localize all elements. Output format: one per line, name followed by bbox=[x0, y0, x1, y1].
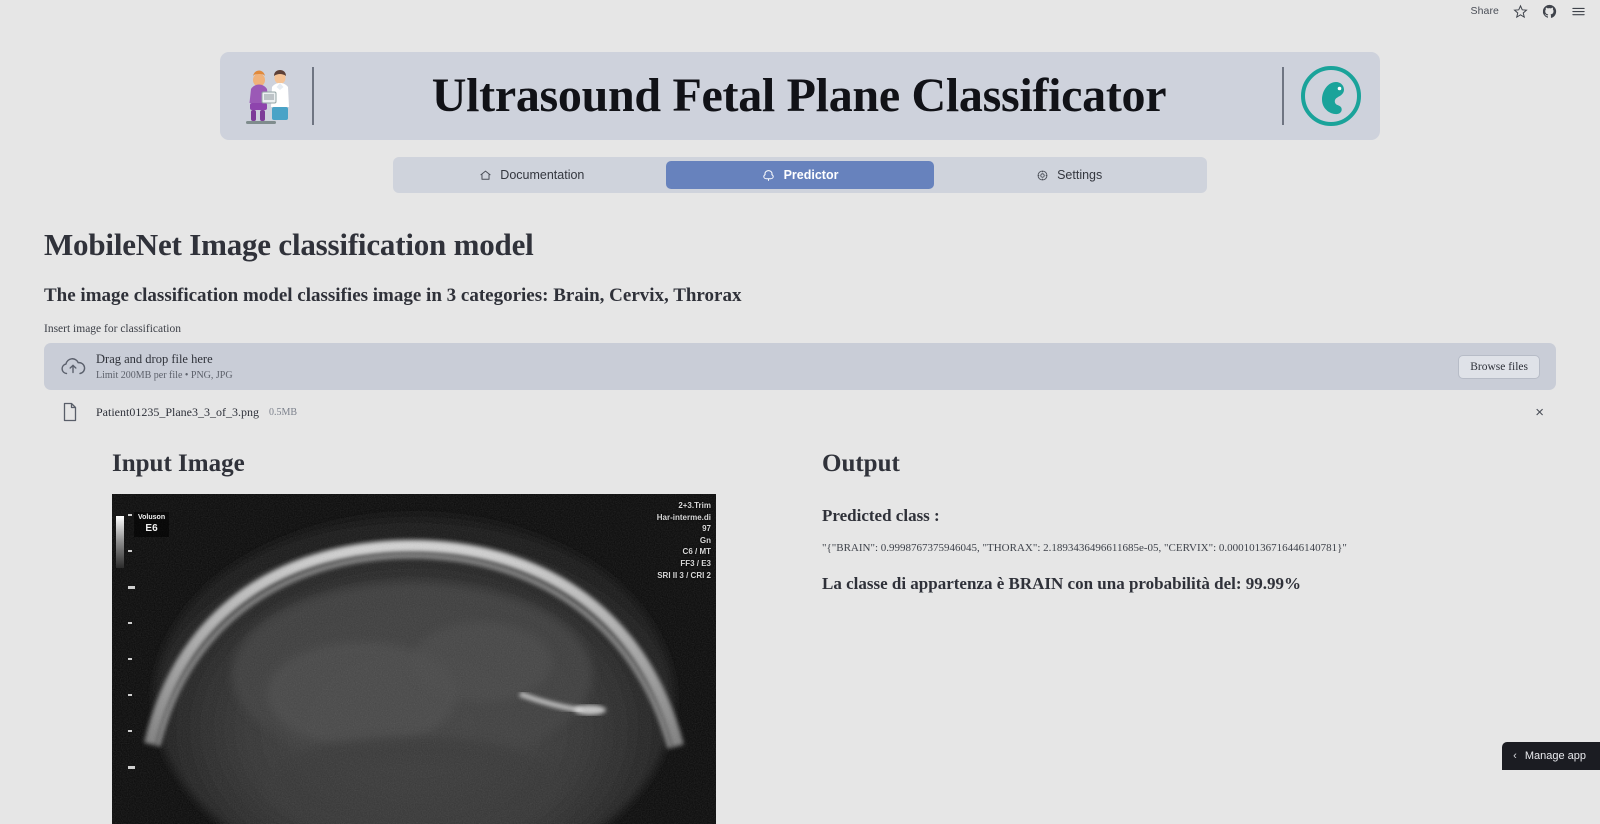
ultrasound-canvas bbox=[112, 494, 716, 824]
uploaded-file-row: Patient01235_Plane3_3_of_3.png 0.5MB × bbox=[44, 398, 1556, 426]
uploaded-file-name: Patient01235_Plane3_3_of_3.png bbox=[96, 405, 259, 420]
ultrasound-param-5: FF3 / E3 bbox=[657, 558, 711, 570]
github-icon[interactable] bbox=[1542, 4, 1557, 19]
manage-app-label: Manage app bbox=[1525, 750, 1586, 762]
dropzone-text: Drag and drop file here Limit 200MB per … bbox=[96, 352, 1458, 381]
star-icon[interactable] bbox=[1513, 4, 1528, 19]
prediction-summary: La classe di appartenza è BRAIN con una … bbox=[822, 574, 1556, 594]
chevron-left-icon: ‹ bbox=[1513, 750, 1517, 762]
ultrasound-param-1: Har-interme.di bbox=[657, 512, 711, 524]
manage-app-button[interactable]: ‹ Manage app bbox=[1502, 742, 1600, 770]
model-subheading: The image classification model classifie… bbox=[44, 285, 1556, 307]
doctor-patient-illustration-icon bbox=[242, 65, 298, 127]
page-title: Ultrasound Fetal Plane Classificator bbox=[330, 72, 1268, 120]
share-label[interactable]: Share bbox=[1470, 5, 1499, 17]
tree-icon bbox=[762, 168, 776, 182]
ultrasound-image: Voluson E6 2+3.Trim Har-interme.di 97 Gn… bbox=[112, 494, 716, 824]
nav-bar: Documentation Predictor Settings bbox=[393, 157, 1207, 193]
insert-image-caption: Insert image for classification bbox=[44, 323, 1556, 335]
banner-divider-left bbox=[312, 67, 314, 125]
header-banner: Ultrasound Fetal Plane Classificator bbox=[220, 52, 1380, 140]
gear-icon bbox=[1035, 168, 1049, 182]
tab-predictor-label: Predictor bbox=[784, 168, 839, 182]
ultrasound-brand-name: Voluson bbox=[138, 513, 165, 522]
dropzone-limit: Limit 200MB per file • PNG, JPG bbox=[96, 370, 1458, 381]
tab-documentation[interactable]: Documentation bbox=[397, 161, 666, 189]
model-heading: MobileNet Image classification model bbox=[44, 227, 1556, 263]
ultrasound-param-2: 97 bbox=[657, 523, 711, 535]
home-icon bbox=[478, 168, 492, 182]
tab-predictor[interactable]: Predictor bbox=[666, 161, 935, 189]
ultrasound-tick-marks bbox=[128, 506, 138, 806]
main-content: MobileNet Image classification model The… bbox=[0, 227, 1600, 824]
header-banner-wrapper: Ultrasound Fetal Plane Classificator bbox=[0, 52, 1600, 140]
ultrasound-param-0: 2+3.Trim bbox=[657, 500, 711, 512]
tab-documentation-label: Documentation bbox=[500, 168, 584, 182]
remove-file-icon[interactable]: × bbox=[1535, 405, 1544, 420]
ultrasound-param-3: Gn bbox=[657, 535, 711, 547]
ultrasound-param-6: SRI II 3 / CRI 2 bbox=[657, 570, 711, 582]
dropzone-title: Drag and drop file here bbox=[96, 352, 1458, 368]
browser-top-bar: Share bbox=[0, 0, 1600, 22]
ultrasound-machine-brand: Voluson E6 bbox=[134, 512, 169, 537]
ultrasound-brand-model: E6 bbox=[138, 522, 165, 536]
input-image-panel: Input Image bbox=[44, 450, 778, 824]
banner-divider-right bbox=[1282, 67, 1284, 125]
results-columns: Input Image bbox=[44, 450, 1556, 824]
predicted-class-label: Predicted class : bbox=[822, 506, 1556, 526]
output-title: Output bbox=[822, 450, 1556, 478]
input-image-title: Input Image bbox=[112, 450, 778, 478]
ultrasound-param-4: C6 / MT bbox=[657, 546, 711, 558]
document-icon bbox=[62, 402, 78, 422]
ultrasound-parameter-overlay: 2+3.Trim Har-interme.di 97 Gn C6 / MT FF… bbox=[657, 500, 711, 581]
browse-files-button[interactable]: Browse files bbox=[1458, 355, 1540, 379]
tab-settings[interactable]: Settings bbox=[934, 161, 1203, 189]
cloud-upload-icon bbox=[58, 352, 88, 382]
fetus-circle-icon bbox=[1300, 65, 1362, 127]
uploaded-file-size: 0.5MB bbox=[269, 407, 297, 418]
output-panel: Output Predicted class : "{"BRAIN": 0.99… bbox=[822, 450, 1556, 824]
file-dropzone[interactable]: Drag and drop file here Limit 200MB per … bbox=[44, 343, 1556, 390]
prediction-probabilities: "{"BRAIN": 0.9998767375946045, "THORAX":… bbox=[822, 542, 1556, 554]
hamburger-menu-icon[interactable] bbox=[1571, 4, 1586, 19]
ultrasound-depth-ruler bbox=[116, 516, 124, 568]
tab-settings-label: Settings bbox=[1057, 168, 1102, 182]
nav-wrapper: Documentation Predictor Settings bbox=[0, 157, 1600, 193]
